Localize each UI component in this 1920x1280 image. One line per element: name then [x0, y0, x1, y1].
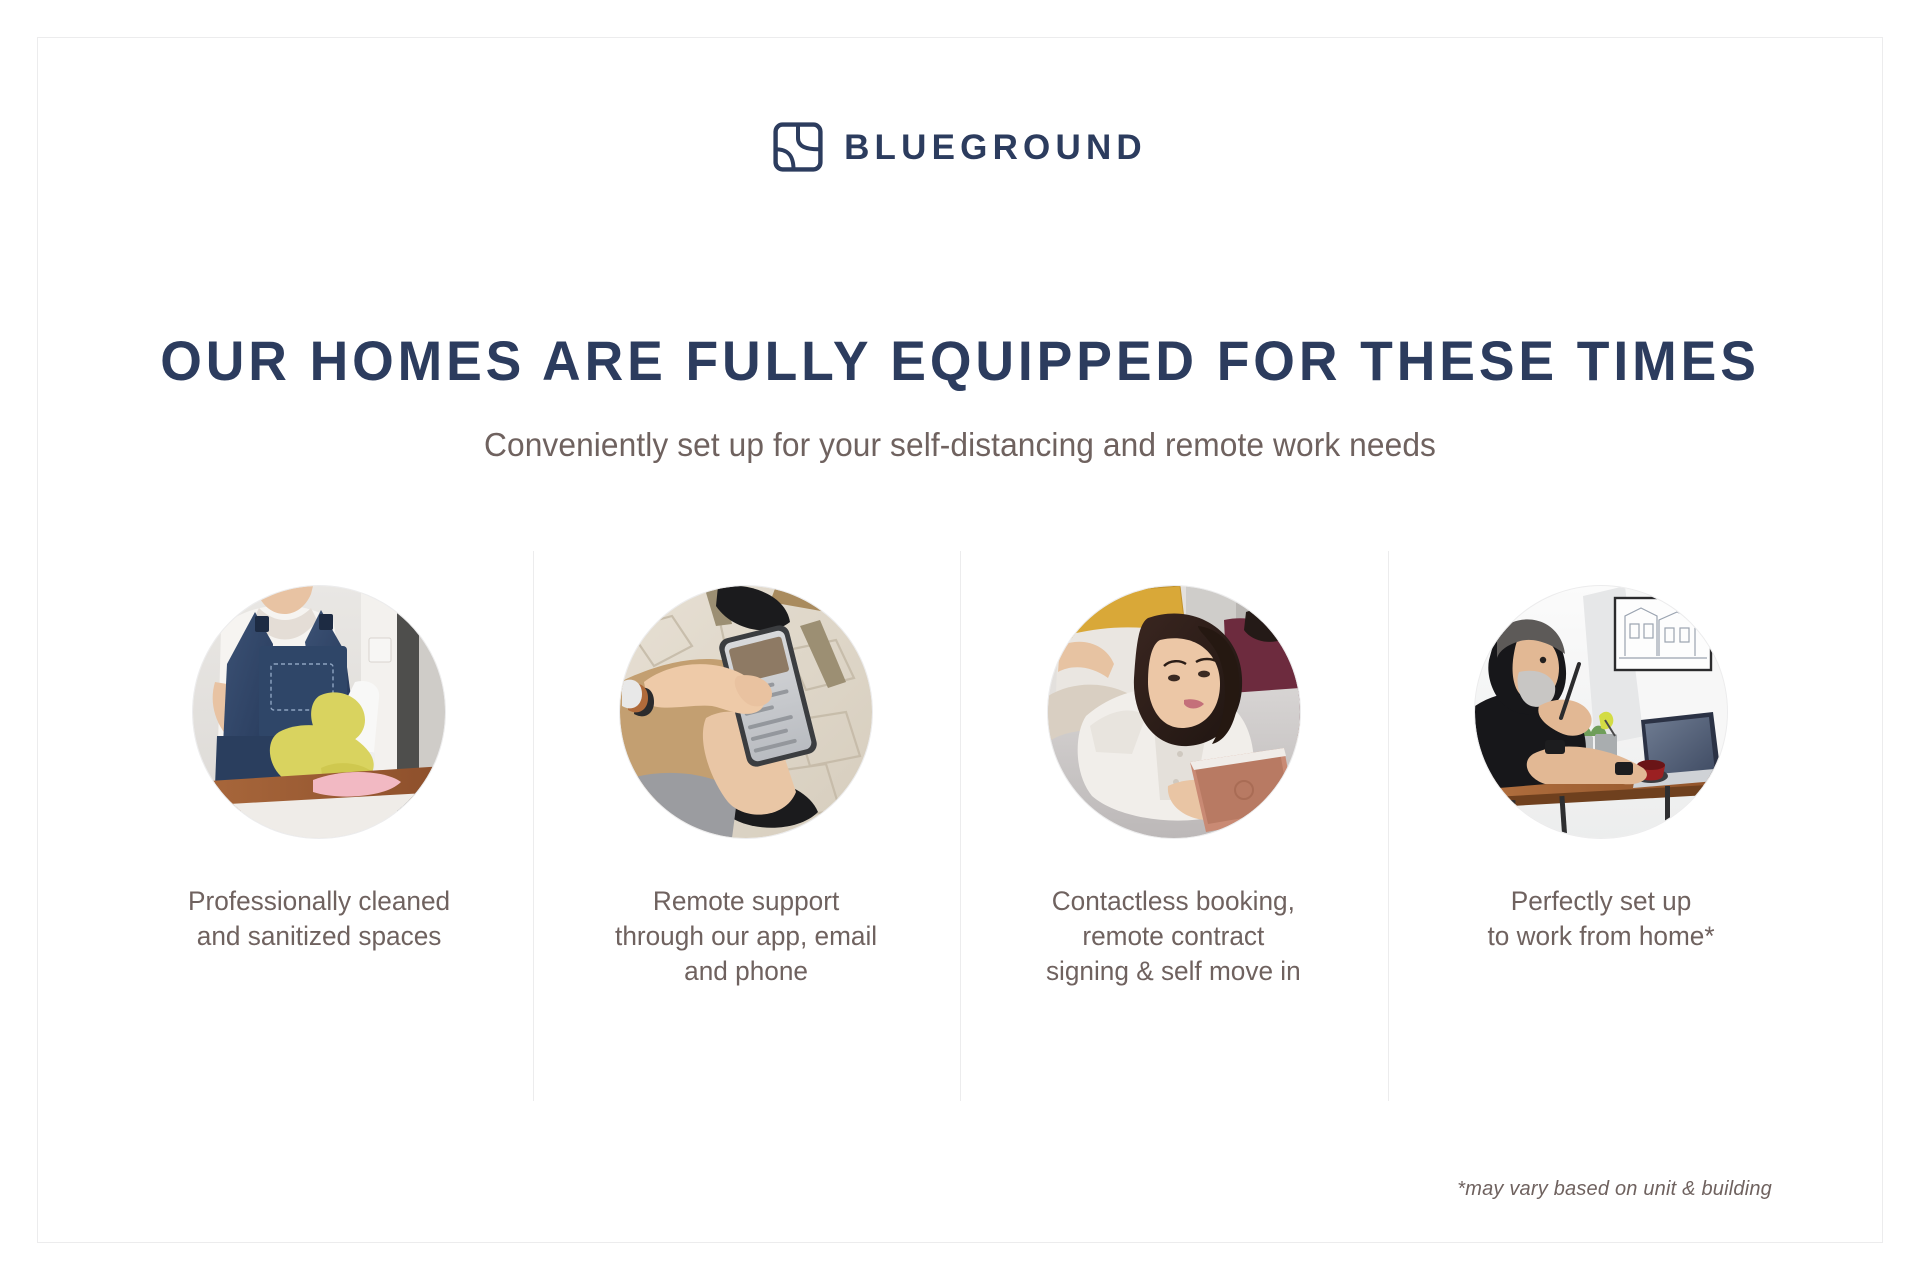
brand-wordmark: BLUEGROUND — [844, 130, 1147, 165]
blueground-square-mark-icon — [773, 122, 823, 172]
feature-list: Professionally cleaned and sanitized spa… — [105, 551, 1815, 1101]
photo-cleaning-person-wiping-counter — [193, 586, 445, 838]
photo-woman-on-bed-with-tablet — [1048, 586, 1300, 838]
feature-caption: Professionally cleaned and sanitized spa… — [188, 884, 450, 954]
poster-frame: BLUEGROUND OUR HOMES ARE FULLY EQUIPPED … — [37, 37, 1883, 1243]
feature-caption: Contactless booking, remote contract sig… — [1046, 884, 1301, 989]
page-title: OUR HOMES ARE FULLY EQUIPPED FOR THESE T… — [79, 331, 1840, 391]
photo-hands-using-smartphone-app — [620, 586, 872, 838]
feature-item-contactless-booking: Contactless booking, remote contract sig… — [960, 551, 1388, 1101]
page-subtitle: Conveniently set up for your self-distan… — [75, 424, 1845, 467]
feature-caption: Remote support through our app, email an… — [615, 884, 877, 989]
photo-man-working-at-desk-with-laptop — [1475, 586, 1727, 838]
feature-item-cleaning: Professionally cleaned and sanitized spa… — [105, 551, 533, 1101]
brand-lockup: BLUEGROUND — [38, 122, 1882, 172]
feature-item-remote-support: Remote support through our app, email an… — [533, 551, 961, 1101]
feature-item-work-from-home: Perfectly set up to work from home* — [1388, 551, 1816, 1101]
footnote-disclaimer: *may vary based on unit & building — [1457, 1178, 1772, 1201]
feature-caption: Perfectly set up to work from home* — [1488, 884, 1715, 954]
